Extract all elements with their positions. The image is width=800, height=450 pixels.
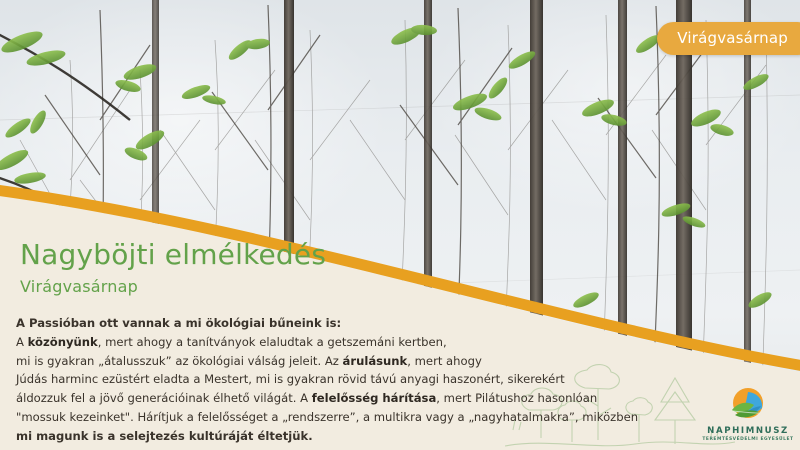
- organization-logo: NAPHIMNUSZ TEREMTÉSVÉDELMI EGYESÜLET: [702, 384, 794, 446]
- body-line-4: Júdás harminc ezüstért eladta a Mestert,…: [16, 370, 716, 389]
- body-lead-line: A Passióban ott vannak a mi ökológiai bű…: [16, 314, 716, 333]
- body-line-3-emphasis: árulásunk: [343, 354, 408, 368]
- body-line-6: "mossuk kezeinket". Hárítjuk a felelőssé…: [16, 408, 716, 427]
- page-subtitle: Virágvasárnap: [20, 277, 138, 296]
- logo-tagline: TEREMTÉSVÉDELMI EGYESÜLET: [702, 437, 794, 442]
- body-line-2-emphasis: közönyünk: [28, 335, 98, 349]
- body-line-2: A közönyünk, mert ahogy a tanítványok el…: [16, 333, 716, 352]
- body-copy: A Passióban ott vannak a mi ökológiai bű…: [16, 314, 716, 445]
- body-line-5-emphasis: felelősség hárítása: [312, 391, 437, 405]
- body-line-2-a: A: [16, 335, 28, 349]
- naphimnusz-sun-hand-leaf-icon: [726, 384, 770, 428]
- body-line-3-c: , mert ahogy: [407, 354, 482, 368]
- page-title: Nagyböjti elmélkedés: [20, 240, 326, 271]
- body-line-5-a: áldozzuk fel a jövő generációinak élhető…: [16, 391, 312, 405]
- social-post-card: Virágvasárnap: [0, 0, 800, 450]
- body-line-7: mi magunk is a selejtezés kultúráját élt…: [16, 427, 716, 446]
- body-line-3-a: mi is gyakran „átalusszuk” az ökológiai …: [16, 354, 343, 368]
- body-line-2-c: , mert ahogy a tanítványok elaludtak a g…: [98, 335, 447, 349]
- body-line-5: áldozzuk fel a jövő generációinak élhető…: [16, 389, 716, 408]
- body-line-3: mi is gyakran „átalusszuk” az ökológiai …: [16, 352, 716, 371]
- body-line-5-c: , mert Pilátushoz hasonlóan: [436, 391, 597, 405]
